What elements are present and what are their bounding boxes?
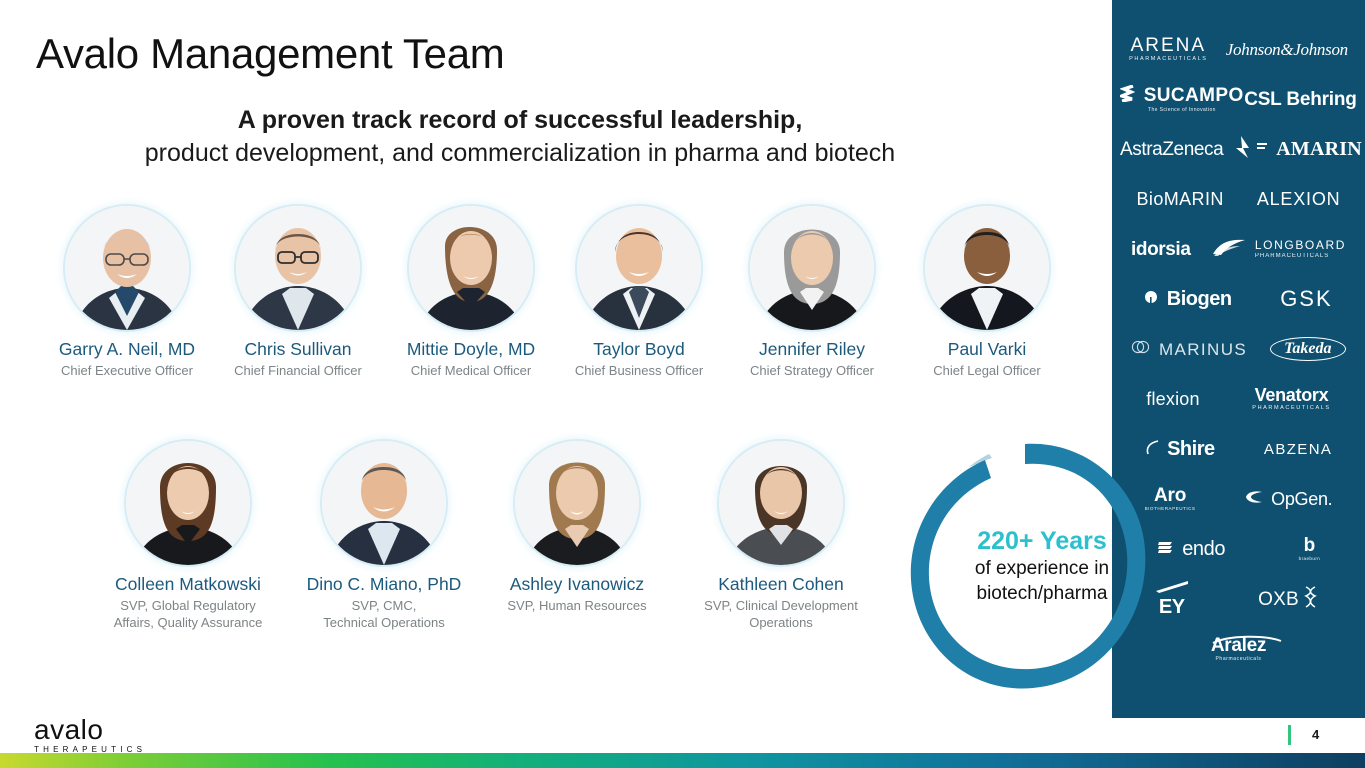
takeda-oval-frame: Takeda — [1270, 337, 1345, 361]
logo-venatorx: Venatorx PHARMACEUTICALS — [1252, 386, 1330, 412]
logo-longboard-sublabel: PHARMACEUTICALS — [1255, 253, 1346, 259]
astrazeneca-mark-icon — [1230, 135, 1252, 163]
logo-amarin: AMARIN — [1256, 139, 1362, 159]
person-role-line-2: Affairs, Quality Assurance — [109, 614, 267, 631]
person-name: Chris Sullivan — [219, 339, 377, 360]
avatar — [515, 441, 639, 565]
footer-gradient-bar — [0, 753, 1365, 768]
avatar — [236, 206, 360, 330]
person-role-line-2: Technical Operations — [305, 614, 463, 631]
person-role: Chief Medical Officer — [392, 362, 550, 379]
avatar — [322, 441, 446, 565]
person-name: Paul Varki — [908, 339, 1066, 360]
logo-abzena-label: ABZENA — [1264, 442, 1332, 457]
logo-amarin-label: AMARIN — [1276, 139, 1362, 159]
person-role: Chief Executive Officer — [48, 362, 206, 379]
portrait-colleen-matkowski — [126, 441, 250, 565]
person-role: Chief Legal Officer — [908, 362, 1066, 379]
biogen-dot-icon — [1144, 290, 1158, 308]
logo-row: EY OXB — [1120, 574, 1357, 624]
avalo-footer-logo: avalo THERAPEUTICS — [34, 716, 146, 754]
person-name: Garry A. Neil, MD — [48, 339, 206, 360]
experience-stat-subline-1: of experience in — [957, 556, 1127, 581]
logo-row: SUCAMPO The Science of Innovation CSL Be… — [1120, 74, 1357, 124]
logo-row: Biogen GSK — [1120, 274, 1357, 324]
logo-takeda-label: Takeda — [1284, 341, 1331, 357]
slide-root: Avalo Management Team A proven track rec… — [0, 0, 1365, 768]
person-name: Jennifer Riley — [733, 339, 891, 360]
avatar — [925, 206, 1049, 330]
person-name: Mittie Doyle, MD — [392, 339, 550, 360]
logo-venatorx-sublabel: PHARMACEUTICALS — [1252, 406, 1330, 412]
logo-flexion-label: flexion — [1146, 390, 1199, 408]
person-name: Ashley Ivanowicz — [498, 574, 656, 595]
logo-alexion-label: ALEXION — [1257, 190, 1341, 208]
logo-abzena: ABZENA — [1264, 442, 1332, 457]
logo-braeburn: b braeburn — [1299, 536, 1321, 562]
logo-idorsia-label: idorsia — [1131, 240, 1191, 259]
logo-row: idorsia LONGBOARD PHARMACEUTICALS — [1120, 224, 1357, 274]
page-number: 4 — [1312, 727, 1319, 742]
person-card: Colleen Matkowski SVP, Global Regulatory… — [109, 441, 267, 631]
avatar — [719, 441, 843, 565]
person-card: Mittie Doyle, MD Chief Medical Officer — [392, 206, 550, 379]
person-card: Dino C. Miano, PhD SVP, CMC, Technical O… — [305, 441, 463, 631]
opgen-mark-icon — [1245, 489, 1263, 509]
logo-biogen: Biogen — [1144, 289, 1231, 309]
experience-stat-headline: 220+ Years — [957, 526, 1127, 556]
avatar — [750, 206, 874, 330]
person-name: Colleen Matkowski — [109, 574, 267, 595]
longboard-wave-icon — [1212, 237, 1246, 261]
logo-astrazeneca: AstraZeneca — [1120, 135, 1256, 163]
person-name: Taylor Boyd — [560, 339, 718, 360]
logo-takeda: Takeda — [1270, 337, 1345, 361]
logo-shire: Shire — [1145, 439, 1215, 459]
logo-csl-label: CSL Behring — [1244, 90, 1357, 109]
logo-sucampo-sublabel: The Science of Innovation — [1120, 108, 1243, 113]
person-name: Kathleen Cohen — [702, 574, 860, 595]
logo-opgen: OpGen. — [1245, 489, 1333, 509]
logo-biogen-label: Biogen — [1167, 289, 1232, 309]
portrait-jennifer-riley — [750, 206, 874, 330]
marinus-mark-icon — [1131, 338, 1150, 360]
ey-beam-icon — [1155, 581, 1189, 593]
person-role-line-2: Operations — [702, 614, 860, 631]
person-role: SVP, Human Resources — [498, 597, 656, 614]
logo-alexion: ALEXION — [1257, 190, 1341, 208]
endo-mark-icon — [1157, 539, 1174, 559]
logo-row: BioMARIN ALEXION — [1120, 174, 1357, 224]
logo-marinus: MARINUS — [1131, 338, 1247, 360]
logo-row: MARINUS Takeda — [1120, 324, 1357, 374]
experience-stat-badge: 220+ Years of experience in biotech/phar… — [905, 438, 1155, 700]
logo-row: flexion Venatorx PHARMACEUTICALS — [1120, 374, 1357, 424]
person-role: SVP, Global Regulatory — [109, 597, 267, 614]
person-card: Chris Sullivan Chief Financial Officer — [219, 206, 377, 379]
portrait-dino-miano — [322, 441, 446, 565]
logo-idorsia: idorsia — [1131, 240, 1191, 259]
person-role: Chief Financial Officer — [219, 362, 377, 379]
logo-venatorx-label: Venatorx — [1252, 386, 1330, 404]
person-card: Ashley Ivanowicz SVP, Human Resources — [498, 441, 656, 614]
logo-row: Aralez Pharmaceuticals — [1120, 624, 1357, 674]
logo-gsk: GSK — [1280, 288, 1332, 310]
logo-row: ARENA PHARMACEUTICALS Johnson&Johnson — [1120, 24, 1357, 74]
portrait-mittie-doyle — [409, 206, 533, 330]
avatar — [409, 206, 533, 330]
person-role: Chief Business Officer — [560, 362, 718, 379]
logo-opgen-label: OpGen. — [1271, 490, 1332, 508]
logo-shire-label: Shire — [1167, 439, 1215, 459]
logo-astrazeneca-label: AstraZeneca — [1120, 140, 1223, 159]
logo-longboard-pharmaceuticals: LONGBOARD PHARMACEUTICALS — [1212, 237, 1346, 261]
person-card: Garry A. Neil, MD Chief Executive Office… — [48, 206, 206, 379]
logo-longboard-label: LONGBOARD — [1255, 239, 1346, 251]
portrait-paul-varki — [925, 206, 1049, 330]
person-card: Jennifer Riley Chief Strategy Officer — [733, 206, 891, 379]
logo-row: Aro BIOTHERAPEUTICS OpGen. — [1120, 474, 1357, 524]
logo-endo: endo — [1157, 539, 1225, 559]
logo-ey-label: EY — [1155, 597, 1189, 617]
logo-gsk-label: GSK — [1280, 288, 1332, 310]
logo-endo-label: endo — [1182, 539, 1225, 559]
experience-stat-subline-2: biotech/pharma — [957, 581, 1127, 606]
avatar — [65, 206, 189, 330]
avalo-logo-wordmark: avalo — [34, 716, 146, 744]
logo-csl-behring: CSL Behring — [1244, 90, 1357, 109]
portrait-garry-neil — [65, 206, 189, 330]
logo-row: Shire ABZENA — [1120, 424, 1357, 474]
logo-ey: EY — [1155, 581, 1189, 617]
logo-arena-label: ARENA — [1129, 36, 1207, 55]
logo-sucampo: SUCAMPO The Science of Innovation — [1120, 85, 1243, 113]
portrait-ashley-ivanowicz — [515, 441, 639, 565]
portrait-kathleen-cohen — [719, 441, 843, 565]
logo-jnj-label: Johnson&Johnson — [1226, 41, 1348, 58]
logo-braeburn-label: b — [1299, 536, 1321, 555]
logo-arena: ARENA PHARMACEUTICALS — [1129, 36, 1207, 63]
portrait-taylor-boyd — [577, 206, 701, 330]
person-role: Chief Strategy Officer — [733, 362, 891, 379]
logo-biomarin: BioMARIN — [1137, 190, 1224, 208]
person-role: SVP, CMC, — [305, 597, 463, 614]
amarin-mark-icon — [1256, 140, 1268, 158]
logo-aralez-pharmaceuticals: Aralez Pharmaceuticals — [1211, 636, 1266, 662]
person-role: SVP, Clinical Development — [702, 597, 860, 614]
oxb-helix-icon — [1303, 586, 1318, 612]
logo-aralez-sublabel: Pharmaceuticals — [1211, 657, 1266, 662]
avatar — [577, 206, 701, 330]
avatar — [126, 441, 250, 565]
person-card: Paul Varki Chief Legal Officer — [908, 206, 1066, 379]
logo-johnson-and-johnson: Johnson&Johnson — [1226, 41, 1348, 58]
sucampo-mark-icon — [1120, 85, 1135, 106]
logo-braeburn-sublabel: braeburn — [1299, 557, 1321, 562]
logo-flexion: flexion — [1146, 390, 1199, 408]
logo-arena-sublabel: PHARMACEUTICALS — [1129, 57, 1207, 63]
portrait-chris-sullivan — [236, 206, 360, 330]
person-card: Taylor Boyd Chief Business Officer — [560, 206, 718, 379]
page-number-separator — [1288, 725, 1291, 745]
experience-stat-text: 220+ Years of experience in biotech/phar… — [957, 526, 1127, 606]
logo-row: endo b braeburn — [1120, 524, 1357, 574]
logo-biomarin-label: BioMARIN — [1137, 190, 1224, 208]
person-card: Kathleen Cohen SVP, Clinical Development… — [702, 441, 860, 631]
logo-row: AstraZeneca AMARIN — [1120, 124, 1357, 174]
logo-oxb: OXB — [1258, 586, 1322, 612]
aralez-arc-icon — [1211, 634, 1283, 644]
person-name: Dino C. Miano, PhD — [305, 574, 463, 595]
logo-oxb-label: OXB — [1258, 590, 1299, 609]
logo-marinus-label: MARINUS — [1159, 341, 1247, 358]
logo-sucampo-label: SUCAMPO — [1144, 86, 1244, 105]
